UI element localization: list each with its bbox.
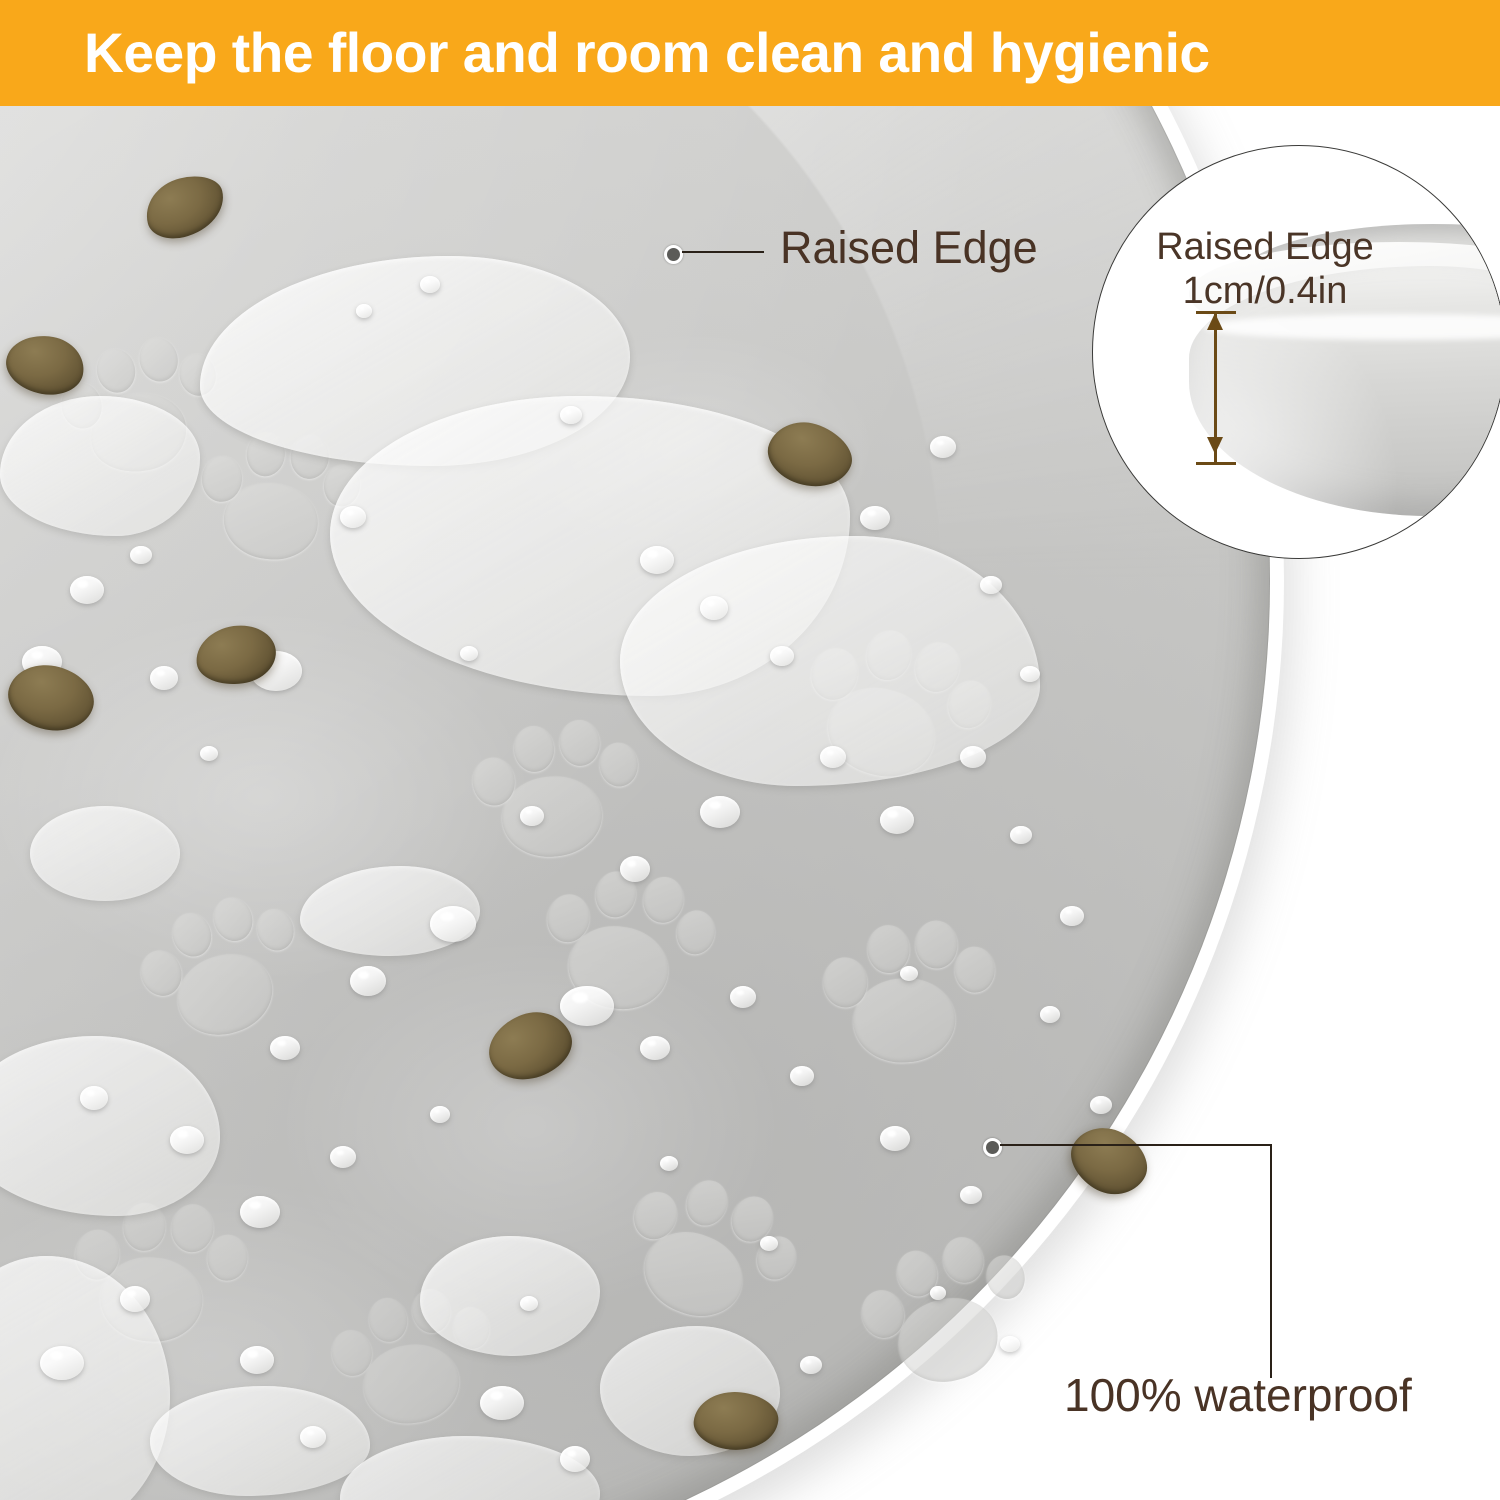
waterproof-callout-label: 100% waterproof: [1064, 1368, 1412, 1422]
pet-feeding-mat: [0, 106, 1270, 1500]
dimension-arrowhead-up: [1207, 313, 1223, 330]
waterproof-leader-line-vertical: [1270, 1144, 1272, 1378]
waterproof-leader-dot: [983, 1138, 1002, 1157]
waterproof-leader-line-horizontal: [1000, 1144, 1272, 1146]
inset-label-line2: 1cm/0.4in: [1100, 269, 1430, 313]
raised-edge-leader-line: [682, 251, 764, 253]
raised-edge-callout-label: Raised Edge: [780, 222, 1038, 274]
product-marketing-image: Keep the floor and room clean and hygien…: [0, 0, 1500, 1500]
inset-label-line1: Raised Edge: [1100, 225, 1430, 269]
mat-drop-shadow: [0, 106, 1284, 1500]
dimension-arrowhead-down: [1207, 437, 1223, 454]
banner-headline: Keep the floor and room clean and hygien…: [84, 25, 1210, 81]
dimension-arrow: [1196, 305, 1236, 473]
raised-edge-leader-dot: [664, 245, 683, 264]
raised-edge-detail-inset: [1092, 145, 1500, 559]
header-banner: Keep the floor and room clean and hygien…: [0, 0, 1500, 106]
inset-vignette: [1093, 146, 1500, 558]
inset-label: Raised Edge 1cm/0.4in: [1100, 225, 1430, 313]
dimension-cap-bottom: [1196, 462, 1236, 465]
